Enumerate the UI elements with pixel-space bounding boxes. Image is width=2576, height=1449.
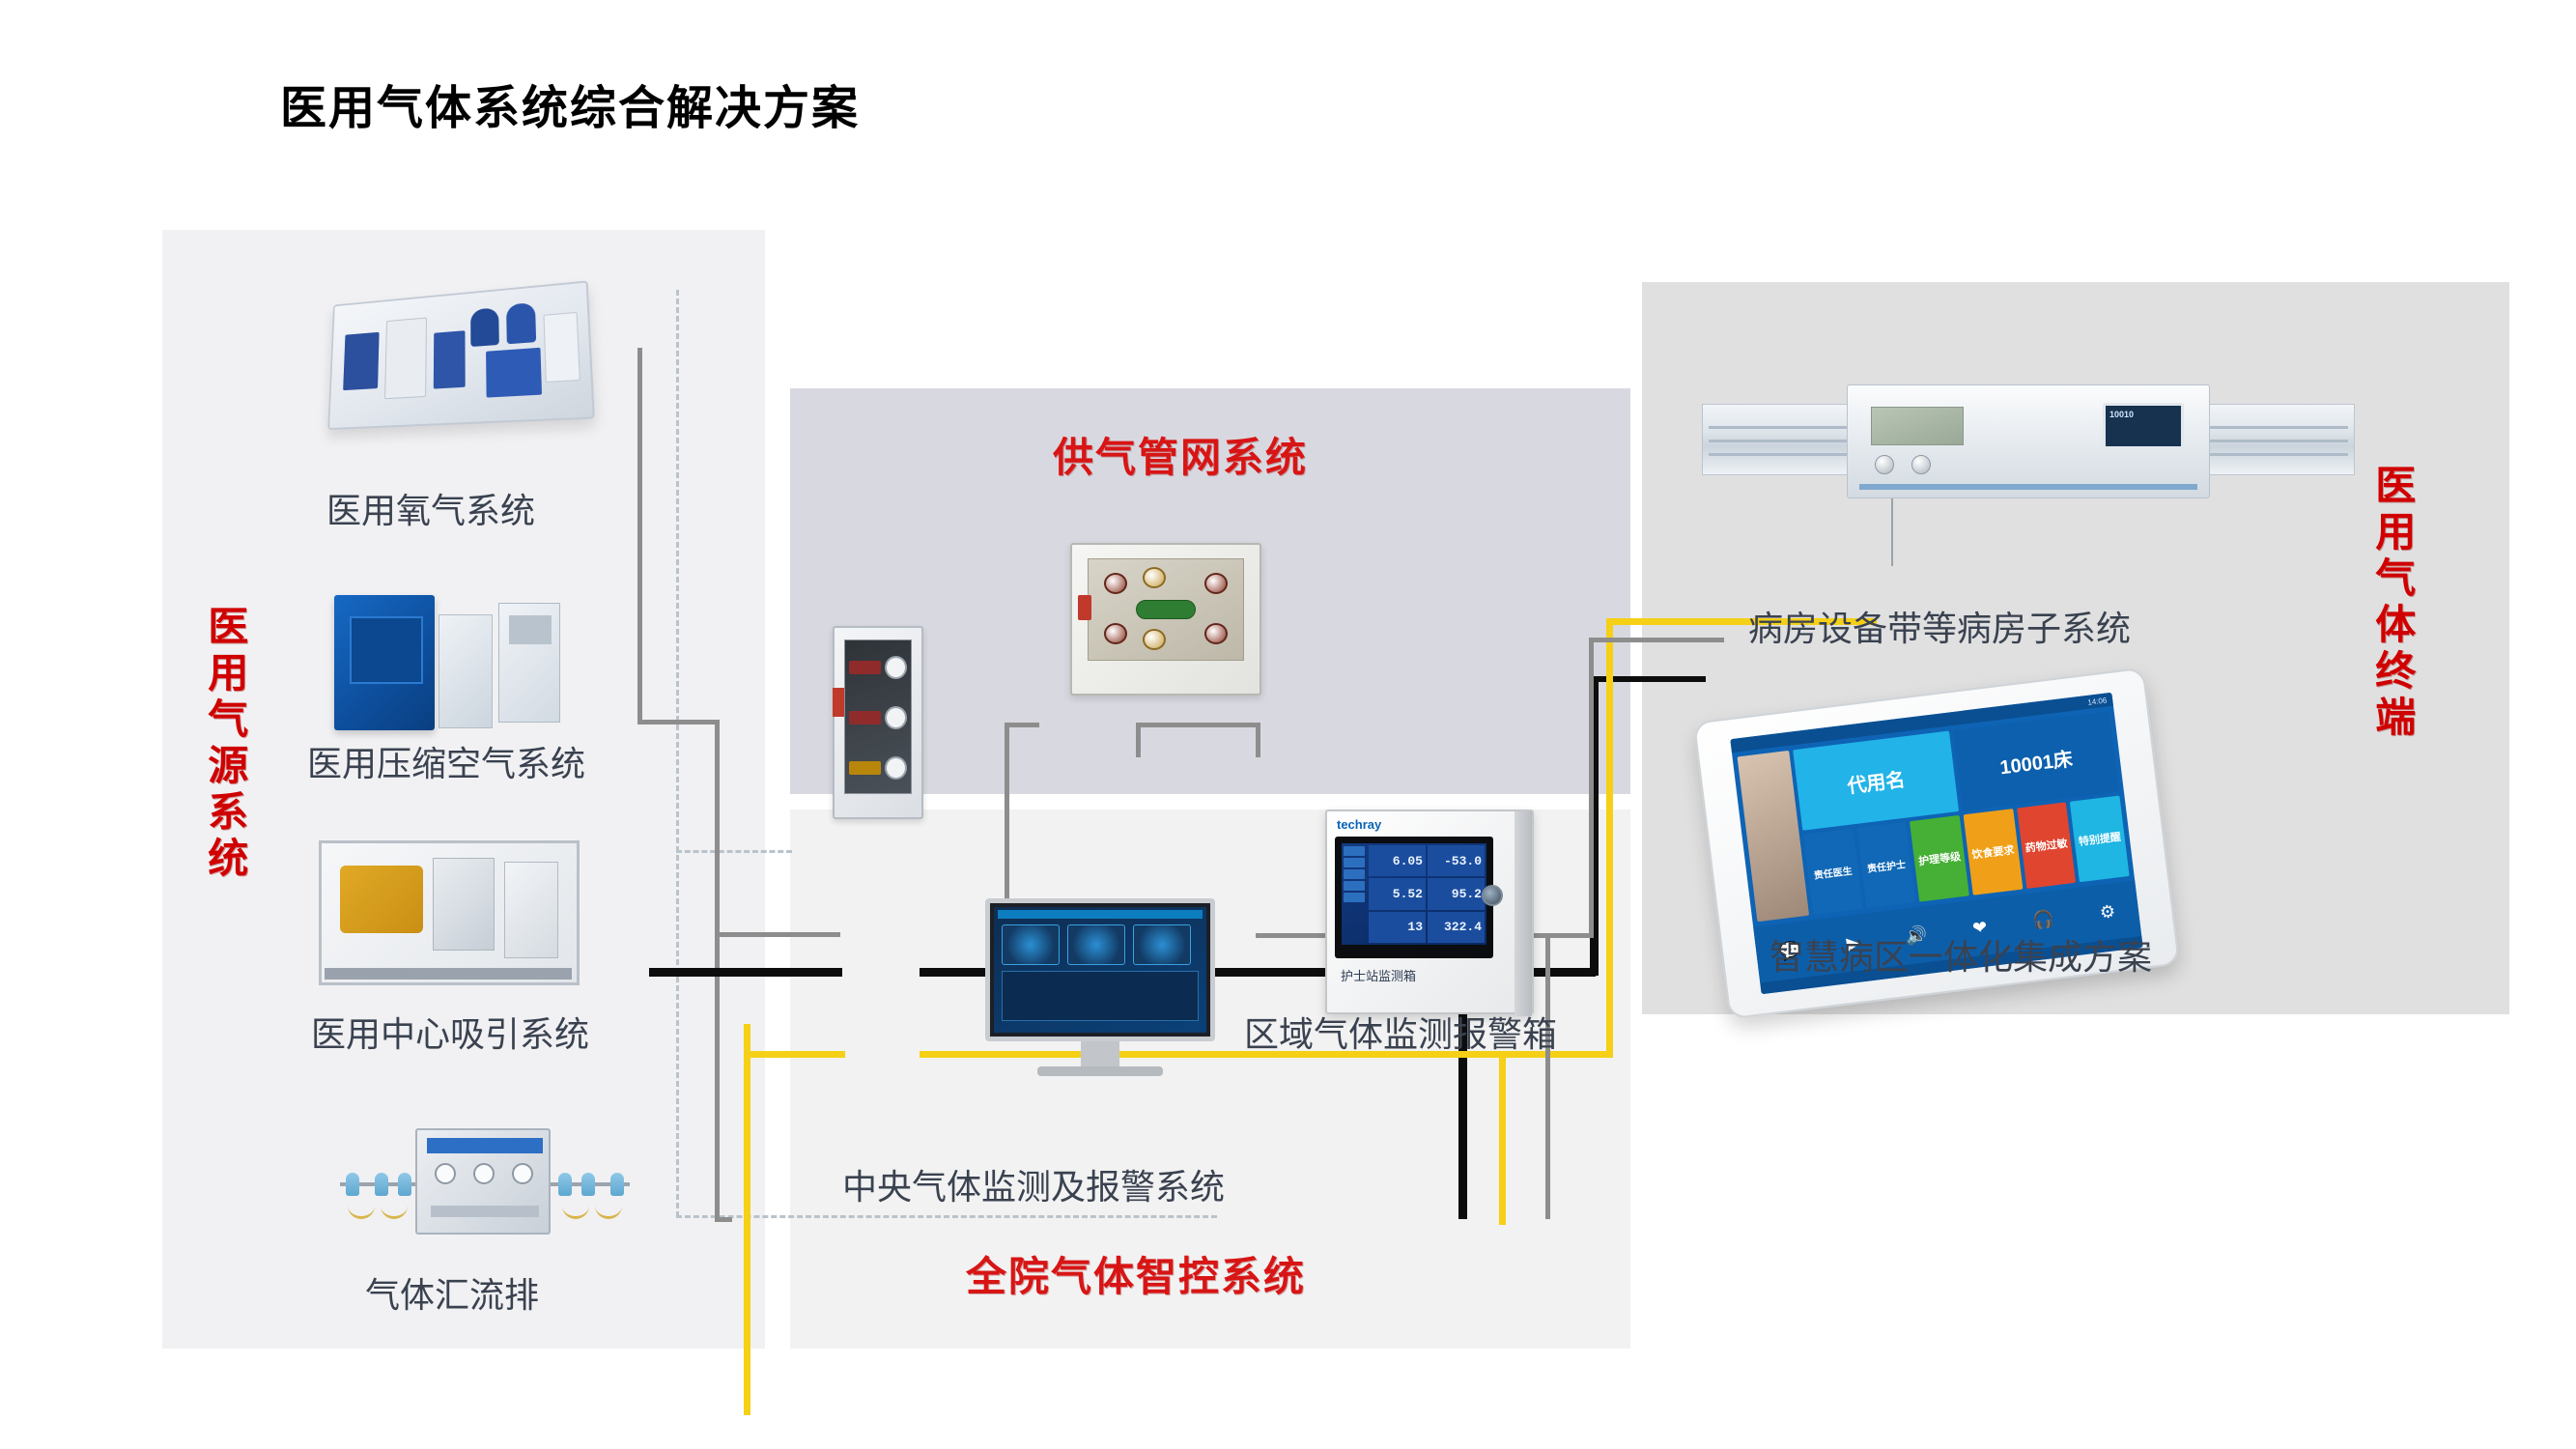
alarm-reading-5: 13	[1369, 912, 1426, 943]
alarm-reading-2: -53.0	[1428, 845, 1485, 876]
alarm-reading-1: 6.05	[1369, 845, 1426, 876]
pipe-gray-top-stub	[637, 720, 719, 724]
section-label-smart-control: 全院气体智控系统	[966, 1244, 1306, 1303]
bed-head-unit-image: 10010	[1702, 384, 2355, 498]
compressed-air-unit-image	[328, 589, 570, 734]
reminder-tile[interactable]: 特别提醒	[2070, 796, 2130, 883]
oxygen-plant-image	[327, 280, 595, 430]
pipe-yellow-riser-right	[1606, 618, 1613, 1058]
patient-name-tile[interactable]: 代用名	[1793, 731, 1959, 831]
alarm-box-caption: 护士站监测箱	[1341, 966, 1416, 984]
page-title: 医用气体系统综合解决方案	[280, 70, 860, 137]
headset-icon[interactable]: 🎧	[2031, 908, 2055, 931]
section-label-pipe-network: 供气管网系统	[1053, 425, 1308, 484]
pipe-gray-riser	[637, 348, 642, 723]
pipe-yellow-drop	[1499, 1051, 1506, 1225]
secondary-pressure-box-image	[833, 626, 923, 819]
care-level-tile[interactable]: 护理等级	[1910, 815, 1969, 902]
alarm-box-lock-icon	[1482, 885, 1503, 906]
nurse-tile[interactable]: 责任护士	[1856, 822, 1916, 909]
caption-compressed-air-system: 医用压缩空气系统	[307, 736, 585, 786]
alarm-reading-4: 95.2	[1428, 878, 1485, 909]
pipe-dashed-branch	[676, 850, 792, 853]
pipe-dashed-bottom	[676, 1215, 1217, 1218]
alarm-reading-3: 5.52	[1369, 878, 1426, 909]
zone-valve-box-image	[1070, 543, 1261, 696]
alarm-box-brand: techray	[1337, 817, 1381, 832]
alarm-reading-6: 322.4	[1428, 912, 1485, 943]
doctor-tile[interactable]: 责任医生	[1803, 828, 1863, 915]
section-label-gas-terminal: 医用气体终端	[2368, 464, 2416, 742]
central-suction-unit-image	[319, 840, 580, 985]
pipe-yellow-left-riser	[744, 1024, 750, 1415]
gear-icon[interactable]: ⚙	[2099, 901, 2117, 923]
pipe-gray-zone-stub-b	[1256, 723, 1260, 757]
caption-central-suction-system: 医用中心吸引系统	[311, 1007, 589, 1057]
diet-tile[interactable]: 饮食要求	[1964, 809, 2024, 895]
caption-zone-alarm-box: 区域气体监测报警箱	[1244, 1007, 1557, 1057]
gas-manifold-image	[340, 1119, 630, 1244]
slide-canvas: 医用气体系统综合解决方案 医用气源系统 医用气体终端 供气管网系统 全院气体智控…	[0, 0, 2576, 1449]
pipe-gray-zone-left	[1005, 723, 1039, 727]
pipe-yellow-to-pressbox	[744, 1051, 845, 1058]
pipe-black-inlet	[649, 968, 842, 977]
caption-gas-manifold: 气体汇流排	[365, 1267, 539, 1318]
pipe-gray-right-riser	[1589, 638, 1594, 935]
pipe-gray-to-pressbox	[715, 932, 840, 937]
pipe-gray-right-top	[1589, 638, 1724, 642]
bed-number-tile[interactable]: 10001床	[1953, 711, 2119, 810]
allergy-tile[interactable]: 药物过敏	[2017, 802, 2077, 889]
central-monitoring-workstation-image	[985, 898, 1215, 1082]
pipe-gray-foot	[715, 1217, 732, 1222]
zone-alarm-box-image: techray 6.05 -53.0 5.52 95.2 13 322.4 护士…	[1325, 810, 1534, 1014]
caption-central-monitoring-system: 中央气体监测及报警系统	[842, 1159, 1225, 1209]
section-label-gas-source: 医用气源系统	[201, 605, 248, 883]
pipe-gray-zone-top	[1136, 723, 1258, 727]
caption-bed-head-unit: 病房设备带等病房子系统	[1748, 601, 2131, 651]
pipe-gray-zone-stub-a	[1136, 723, 1141, 757]
caption-smart-ward-solution: 智慧病区一体化集成方案	[1769, 929, 2152, 980]
caption-oxygen-system: 医用氧气系统	[326, 483, 535, 533]
pipe-dashed-left	[676, 290, 679, 1217]
pipe-gray-center-drop	[1545, 933, 1550, 1219]
